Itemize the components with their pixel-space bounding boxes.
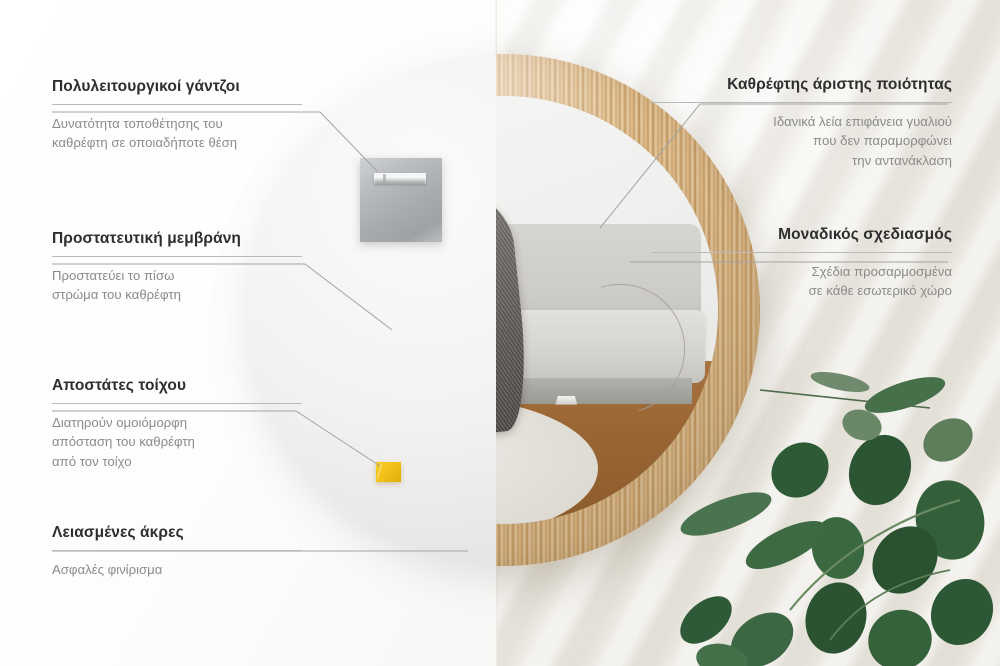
callout-title: Μοναδικός σχεδιασμός [652, 226, 952, 245]
callout-rule [652, 252, 952, 253]
callout-body: Διατηρούν ομοιόμορφη απόσταση του καθρέφ… [52, 413, 302, 472]
callout-top-quality-mirror: Καθρέφτης άριστης ποιότητας Ιδανικά λεία… [652, 76, 952, 171]
callout-body: Σχέδια προσαρμοσμένα σε κάθε εσωτερικό χ… [652, 262, 952, 302]
yellow-spacer [376, 462, 401, 482]
callout-unique-design: Μοναδικός σχεδιασμός Σχέδια προσαρμοσμέν… [652, 226, 952, 301]
callout-smoothed-edges: Λειασμένες άκρες Ασφαλές φινίρισμα [52, 524, 302, 579]
callout-title: Αποστάτες τοίχου [52, 377, 302, 396]
callout-body: Ιδανικά λεία επιφάνεια γυαλιού που δεν π… [652, 112, 952, 171]
callout-title: Πολυλειτουργικοί γάντζοι [52, 78, 302, 97]
callout-title: Λειασμένες άκρες [52, 524, 302, 543]
bracket-slot [374, 173, 426, 184]
callout-rule [52, 256, 302, 257]
callout-protective-membrane: Προστατευτική μεμβράνη Προστατεύει το πί… [52, 230, 302, 305]
callout-rule [52, 104, 302, 105]
hanging-bracket [360, 158, 442, 242]
callout-title: Προστατευτική μεμβράνη [52, 230, 302, 249]
callout-rule [652, 102, 952, 103]
callout-body: Ασφαλές φινίρισμα [52, 560, 302, 580]
callout-rule [52, 550, 302, 551]
callout-multifunctional-hooks: Πολυλειτουργικοί γάντζοι Δυνατότητα τοπο… [52, 78, 302, 153]
reflected-lamp-shade [555, 396, 577, 405]
infographic-canvas: Πολυλειτουργικοί γάντζοι Δυνατότητα τοπο… [0, 0, 1000, 666]
callout-title: Καθρέφτης άριστης ποιότητας [652, 76, 952, 95]
callout-wall-spacers: Αποστάτες τοίχου Διατηρούν ομοιόμορφη απ… [52, 377, 302, 472]
callout-rule [52, 403, 302, 404]
callout-body: Δυνατότητα τοποθέτησης του καθρέφτη σε ο… [52, 114, 302, 154]
callout-body: Προστατεύει το πίσω στρώμα του καθρέφτη [52, 266, 302, 306]
